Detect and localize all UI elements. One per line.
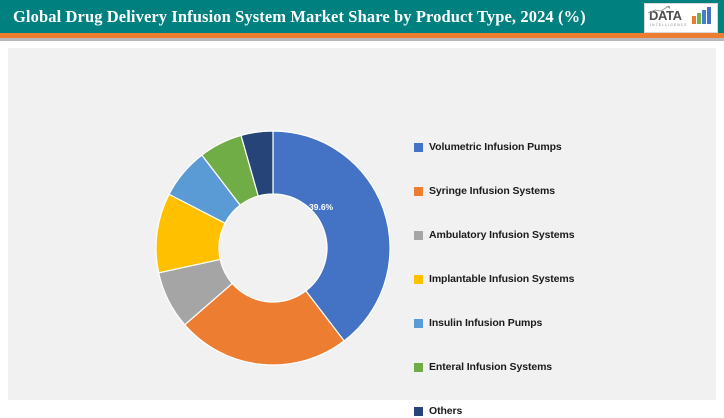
legend-item-implantable-infusion-systems[interactable]: Implantable Infusion Systems [414,272,694,286]
logo-bar-1 [692,16,696,24]
logo-bars-icon [692,7,714,24]
legend-swatch-icon [414,275,423,284]
legend-swatch-icon [414,231,423,240]
legend-swatch-icon [414,143,423,152]
logo-subtitle: INTELLIGENCE [650,23,688,27]
legend-swatch-icon [414,187,423,196]
legend-swatch-icon [414,319,423,328]
legend-item-label: Enteral Infusion Systems [429,361,552,373]
legend-item-label: Others [429,405,462,417]
header-bar: Global Drug Delivery Infusion System Mar… [0,0,724,33]
legend-item-enteral-infusion-systems[interactable]: Enteral Infusion Systems [414,360,694,374]
logo-bar-3 [702,10,706,24]
chart-page: Global Drug Delivery Infusion System Mar… [0,0,724,409]
donut-svg [151,126,395,370]
legend-item-label: Syringe Infusion Systems [429,185,555,197]
logo-bar-4 [707,7,711,24]
legend-swatch-icon [414,363,423,372]
logo-bar-2 [697,13,701,24]
legend-item-ambulatory-infusion-systems[interactable]: Ambulatory Infusion Systems [414,228,694,242]
donut-chart: 39.6% [151,126,395,370]
legend-item-others[interactable]: Others [414,404,694,418]
legend-item-label: Ambulatory Infusion Systems [429,229,575,241]
logo-arrow-icon [648,6,670,14]
plot-area: 39.6% Volumetric Infusion Pumps Syringe … [8,48,716,400]
legend-item-label: Implantable Infusion Systems [429,273,574,285]
legend-item-syringe-infusion-systems[interactable]: Syringe Infusion Systems [414,184,694,198]
legend-item-label: Volumetric Infusion Pumps [429,141,562,153]
legend-swatch-icon [414,407,423,416]
chart-body: 39.6% Volumetric Infusion Pumps Syringe … [0,41,724,409]
legend-item-volumetric-infusion-pumps[interactable]: Volumetric Infusion Pumps [414,140,694,154]
legend-item-insulin-infusion-pumps[interactable]: Insulin Infusion Pumps [414,316,694,330]
brand-logo: DATA INTELLIGENCE [644,3,718,33]
page-title: Global Drug Delivery Infusion System Mar… [13,0,586,33]
legend-item-label: Insulin Infusion Pumps [429,317,542,329]
chart-legend: Volumetric Infusion Pumps Syringe Infusi… [414,140,694,418]
logo-inner: DATA INTELLIGENCE [648,6,714,30]
